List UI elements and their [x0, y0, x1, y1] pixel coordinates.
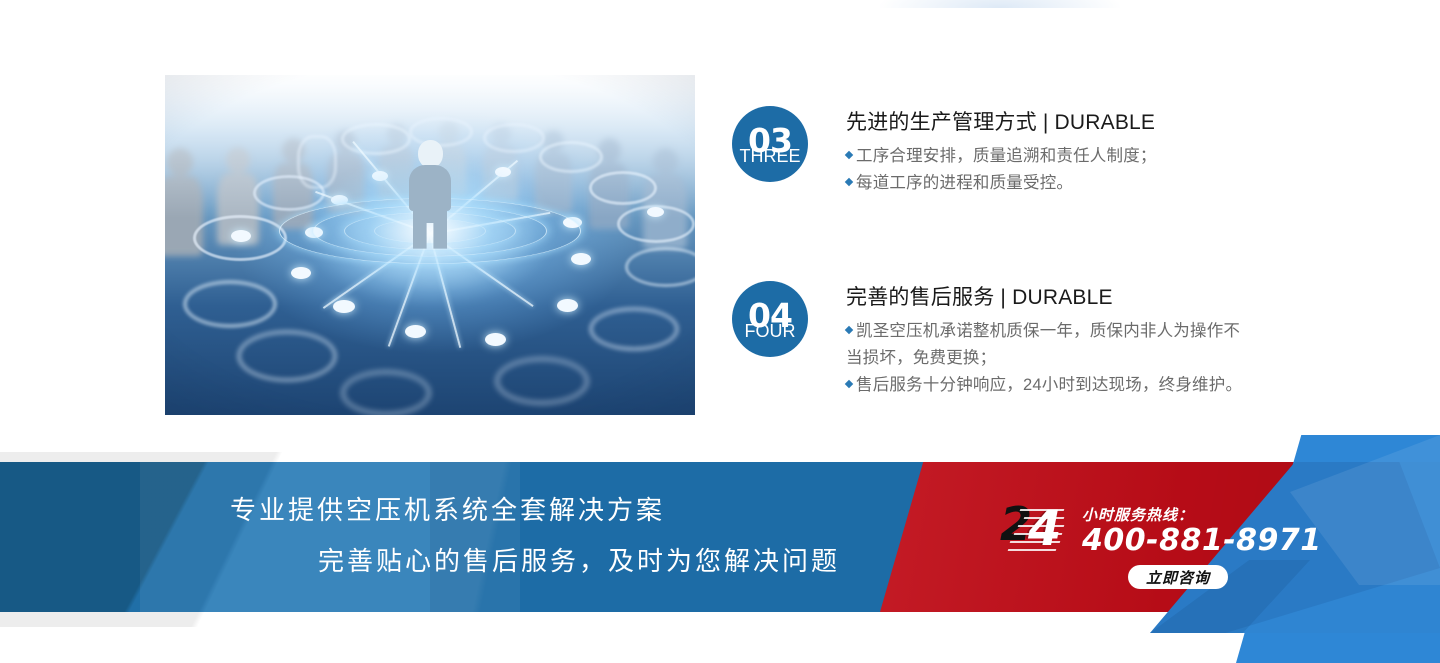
hotline-block: 2 4 小时服务热线： 400-881-8971: [1000, 497, 1322, 559]
feature-block-04: 04 FOUR 完善的售后服务 | DURABLE 凯圣空压机承诺整机质保一年，…: [732, 281, 1246, 399]
feature-block-03: 03 THREE 先进的生产管理方式 | DURABLE 工序合理安排，质量追溯…: [732, 106, 1157, 197]
feature-text-03: 先进的生产管理方式 | DURABLE 工序合理安排，质量追溯和责任人制度； 每…: [846, 106, 1157, 197]
badge-word: THREE: [739, 148, 800, 165]
feature-line-text: 每道工序的进程和质量受控。: [856, 174, 1073, 192]
feature-line-text: 售后服务十分钟响应，24小时到达现场，终身维护。: [856, 376, 1242, 394]
hotline-phone-number: 400-881-8971: [1082, 525, 1322, 557]
hero-network-image: [165, 75, 695, 415]
feature-title: 先进的生产管理方式 | DURABLE: [846, 106, 1157, 136]
diamond-bullet-icon: [845, 178, 853, 186]
diamond-bullet-icon: [845, 151, 853, 159]
diamond-bullet-icon: [845, 380, 853, 388]
banner-slogan-line-1: 专业提供空压机系统全套解决方案: [0, 486, 900, 537]
feature-line: 每道工序的进程和质量受控。: [846, 170, 1157, 197]
diamond-bullet-icon: [845, 326, 853, 334]
24-hour-logo: 2 4: [1000, 497, 1078, 559]
banner-slogans: 专业提供空压机系统全套解决方案 完善贴心的售后服务，及时为您解决问题: [0, 462, 900, 612]
feature-line: 凯圣空压机承诺整机质保一年，质保内非人为操作不当损坏，免费更换；: [846, 318, 1246, 372]
logo-digit-4: 4: [1028, 505, 1061, 553]
photo-vignette: [165, 75, 695, 415]
feature-text-04: 完善的售后服务 | DURABLE 凯圣空压机承诺整机质保一年，质保内非人为操作…: [846, 281, 1246, 399]
feature-badge-03: 03 THREE: [732, 106, 808, 182]
feature-line: 售后服务十分钟响应，24小时到达现场，终身维护。: [846, 372, 1246, 399]
upper-content-section: 03 THREE 先进的生产管理方式 | DURABLE 工序合理安排，质量追溯…: [0, 0, 1440, 462]
banner-slogan-line-2: 完善贴心的售后服务，及时为您解决问题: [0, 537, 900, 588]
feature-title: 完善的售后服务 | DURABLE: [846, 281, 1246, 311]
feature-badge-04: 04 FOUR: [732, 281, 808, 357]
feature-line-text: 凯圣空压机承诺整机质保一年，质保内非人为操作不当损坏，免费更换；: [846, 322, 1240, 367]
hotline-label: 小时服务热线：: [1082, 507, 1322, 524]
consult-now-button[interactable]: 立即咨询: [1128, 565, 1228, 589]
feature-line: 工序合理安排，质量追溯和责任人制度；: [846, 143, 1157, 170]
badge-word: FOUR: [745, 323, 796, 340]
feature-line-text: 工序合理安排，质量追溯和责任人制度；: [856, 147, 1157, 165]
